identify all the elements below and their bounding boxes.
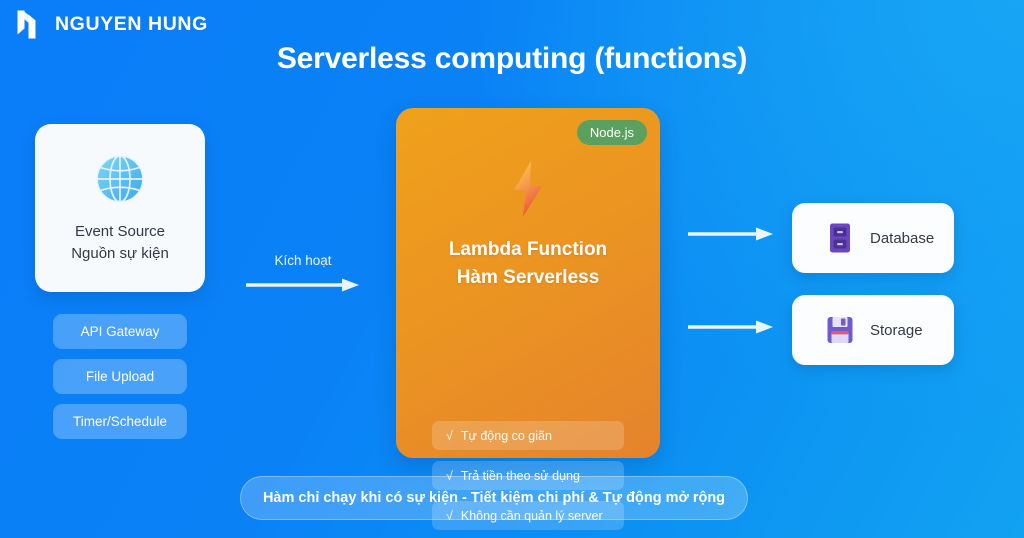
runtime-badge-label: Node.js	[590, 125, 634, 140]
arrow-right-icon	[688, 320, 774, 334]
trigger-pill-api-gateway[interactable]: API Gateway	[53, 314, 187, 349]
lambda-title-en: Lambda Function	[396, 236, 660, 264]
output-card-storage: Storage	[792, 295, 954, 365]
arrow-right-icon	[688, 227, 774, 241]
check-icon: √	[446, 429, 453, 443]
lambda-title-vi: Hàm Serverless	[396, 264, 660, 292]
lambda-card-title: Lambda Function Hàm Serverless	[396, 236, 660, 291]
feature-pill-auto-scaling: √ Tự động co giãn	[432, 421, 624, 450]
brand-logo: NGUYEN HUNG	[16, 8, 208, 41]
database-icon	[825, 222, 855, 254]
output-card-database: Database	[792, 203, 954, 273]
slide-canvas: NGUYEN HUNG Serverless computing (functi…	[0, 0, 1024, 538]
event-source-labels: Event Source Nguồn sự kiện	[71, 221, 169, 265]
trigger-pill-label: Timer/Schedule	[73, 414, 167, 429]
nh-monogram-icon	[16, 8, 46, 41]
lightning-bolt-icon	[507, 160, 549, 218]
output-card-label: Database	[870, 230, 934, 247]
trigger-pill-timer-schedule[interactable]: Timer/Schedule	[53, 404, 187, 439]
trigger-pill-label: API Gateway	[81, 324, 160, 339]
feature-pill-label: Tự động co giãn	[461, 429, 552, 443]
trigger-pill-file-upload[interactable]: File Upload	[53, 359, 187, 394]
event-source-card: Event Source Nguồn sự kiện	[35, 124, 205, 292]
event-source-label-vi: Nguồn sự kiện	[71, 243, 169, 265]
activation-label: Kích hoạt	[246, 253, 360, 268]
runtime-badge: Node.js	[577, 120, 647, 145]
slide-title: Serverless computing (functions)	[0, 42, 1024, 76]
lambda-function-card: Node.js Lambda Function Hàm Serverless √…	[396, 108, 660, 458]
brand-name: NGUYEN HUNG	[55, 13, 208, 36]
floppy-disk-icon	[825, 314, 855, 346]
arrow-right-icon	[246, 278, 360, 292]
globe-icon	[92, 151, 148, 207]
summary-caption: Hàm chỉ chạy khi có sự kiện - Tiết kiệm …	[240, 476, 748, 520]
activation-connector: Kích hoạt	[246, 253, 360, 292]
trigger-pill-label: File Upload	[86, 369, 154, 384]
event-source-label-en: Event Source	[71, 221, 169, 243]
output-card-label: Storage	[870, 322, 923, 339]
